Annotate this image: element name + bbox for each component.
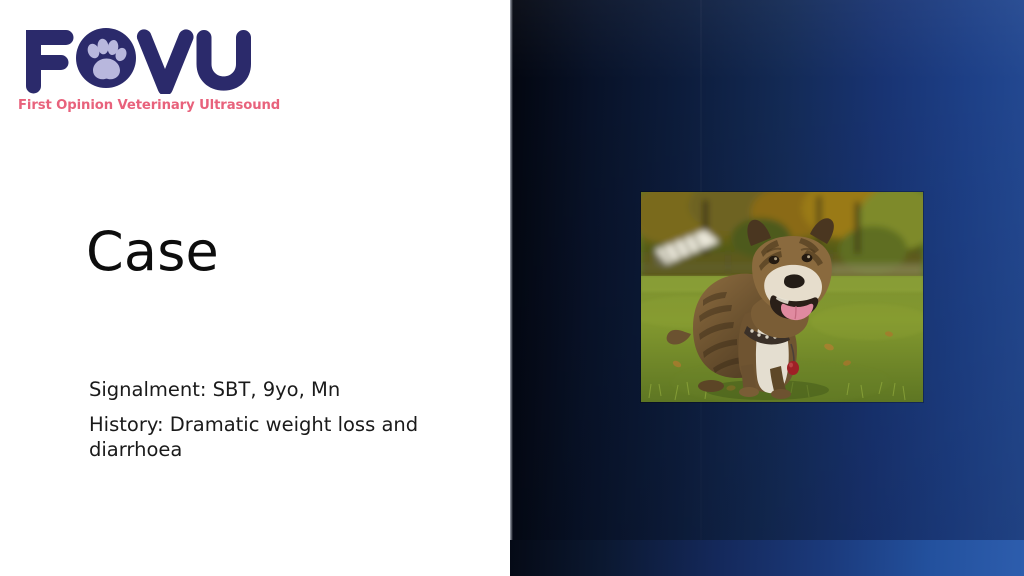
history-line: History: Dramatic weight loss and diarrh… — [89, 413, 449, 463]
signalment-line: Signalment: SBT, 9yo, Mn — [89, 378, 449, 403]
case-photo: 0%#4d4a22 — [641, 192, 923, 402]
left-content-panel: First Opinion Veterinary Ultrasound Case… — [0, 0, 510, 576]
brand-logo: First Opinion Veterinary Ultrasound — [18, 18, 263, 113]
right-decorative-panel: 0%#4d4a22 — [510, 0, 1024, 576]
panel-bottom-band — [510, 540, 1024, 576]
presentation-slide: First Opinion Veterinary Ultrasound Case… — [0, 0, 1024, 576]
case-details: Signalment: SBT, 9yo, Mn History: Dramat… — [89, 378, 449, 463]
panel-left-highlight — [510, 0, 513, 576]
page-title: Case — [86, 222, 219, 281]
fovu-wordmark-icon — [18, 18, 258, 94]
dog-photograph: 0%#4d4a22 — [641, 192, 923, 402]
logo-o-circle — [76, 28, 136, 88]
brand-tagline: First Opinion Veterinary Ultrasound — [18, 98, 263, 113]
